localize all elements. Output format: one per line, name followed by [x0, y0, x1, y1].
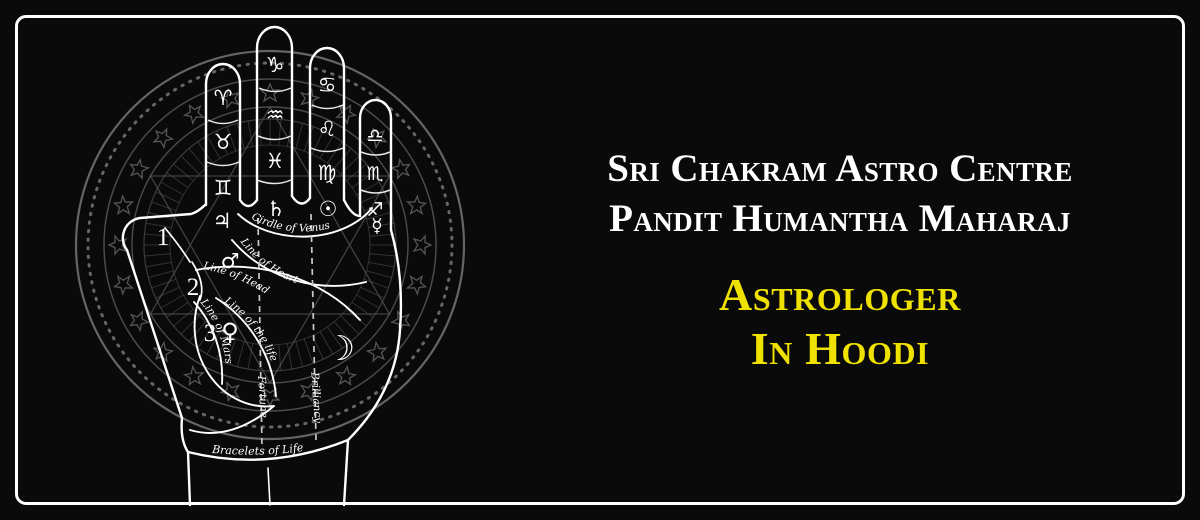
glyph-pisces: ♓ — [266, 149, 285, 173]
subhead-line1: Astrologer — [719, 268, 961, 322]
wrist-center-crease — [268, 468, 270, 505]
label-brilliancy: Brilliancy — [308, 371, 324, 425]
thumb-number-1: 1 — [157, 224, 170, 251]
glyph-capricorn: ♑ — [266, 53, 285, 77]
label-bracelets-of-life: Bracelets of Life — [211, 441, 305, 458]
palmistry-illustration: ♈ ♉ ♊ ♑ ♒ ♓ ♋ ♌ ♍ ♎ ♏ ♐ ♃ ♄ ☉ ☿ — [30, 0, 510, 520]
finger-web-middle-ring — [292, 196, 310, 204]
glyph-leo: ♌ — [318, 117, 337, 141]
glyph-sun: ☉ — [319, 197, 338, 221]
finger-web-index-middle — [240, 200, 257, 206]
glyph-virgo: ♍ — [318, 161, 337, 185]
glyph-moon: ☽ — [325, 329, 355, 369]
glyph-jupiter: ♃ — [213, 209, 232, 233]
glyph-mercury: ☿ — [371, 215, 383, 237]
glyph-libra: ♎ — [366, 125, 383, 147]
palm-outline — [182, 418, 190, 505]
glyph-taurus: ♉ — [214, 130, 233, 154]
finger-web-ring-pinky — [344, 200, 360, 216]
glyph-cancer: ♋ — [318, 73, 337, 97]
business-name-line1: Sri Chakram Astro Centre — [607, 144, 1072, 194]
label-fortune: Fortune — [255, 375, 270, 419]
headline-block: Sri Chakram Astro Centre Pandit Humantha… — [500, 0, 1180, 520]
subhead-line2: In Hoodi — [751, 322, 929, 376]
thumb-number-2: 2 — [187, 274, 200, 301]
astrology-banner: ♈ ♉ ♊ ♑ ♒ ♓ ♋ ♌ ♍ ♎ ♏ ♐ ♃ ♄ ☉ ☿ — [0, 0, 1200, 520]
business-name-line2: Pandit Humantha Maharaj — [609, 194, 1071, 244]
glyph-aries: ♈ — [214, 86, 233, 110]
glyph-aquarius: ♒ — [266, 103, 285, 127]
wheel-inner-ring — [170, 145, 370, 345]
glyph-scorpio: ♏ — [366, 163, 383, 185]
glyph-gemini: ♊ — [214, 176, 233, 200]
